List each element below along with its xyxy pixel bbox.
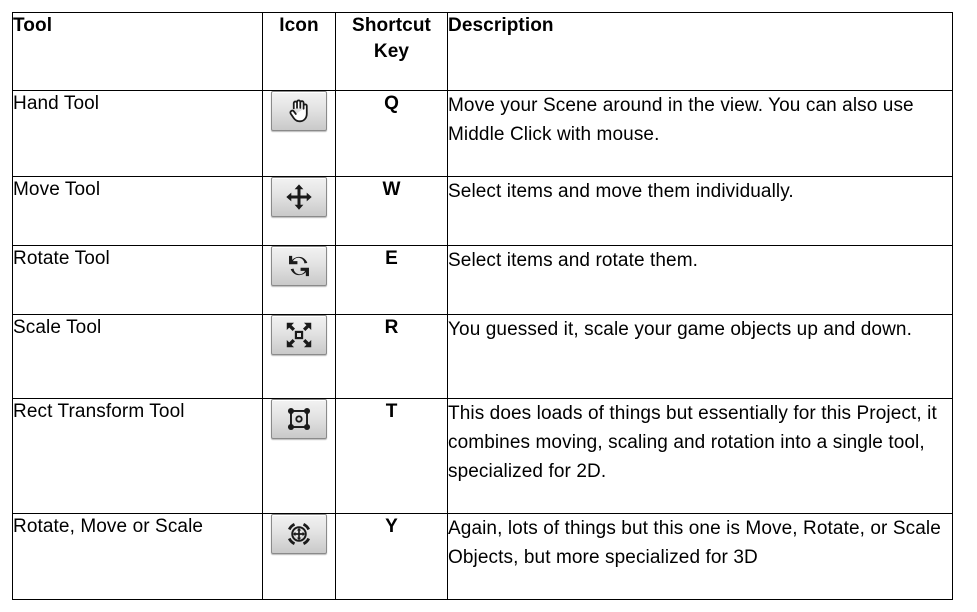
table-row: Rotate, Move or Scale: [13, 514, 953, 600]
column-header-icon: Icon: [263, 13, 336, 91]
column-header-description: Description: [448, 13, 953, 91]
hand-tool-icon[interactable]: [271, 91, 327, 131]
unity-tools-table: Tool Icon Shortcut Key Description Hand …: [12, 12, 953, 600]
cell-description: Select items and move them individually.: [448, 177, 953, 246]
table-body: Hand Tool Q Move your Scene around in th…: [13, 91, 953, 600]
cell-tool-icon: [263, 514, 336, 600]
scale-tool-icon[interactable]: [271, 315, 327, 355]
cell-tool-name: Move Tool: [13, 177, 263, 246]
cell-description: You guessed it, scale your game objects …: [448, 315, 953, 399]
rotate-tool-icon[interactable]: [271, 246, 327, 286]
move-tool-icon[interactable]: [271, 177, 327, 217]
column-header-tool: Tool: [13, 13, 263, 91]
cell-tool-name: Rotate Tool: [13, 246, 263, 315]
cell-shortcut-key: Y: [336, 514, 448, 600]
cell-description: Select items and rotate them.: [448, 246, 953, 315]
cell-shortcut-key: W: [336, 177, 448, 246]
rotate-move-scale-tool-icon[interactable]: [271, 514, 327, 554]
column-header-shortcut-line1: Shortcut: [352, 15, 431, 36]
table-row: Hand Tool Q Move your Scene around in th…: [13, 91, 953, 177]
cell-tool-name: Rotate, Move or Scale: [13, 514, 263, 600]
table-row: Rotate Tool E Select items and rotate th…: [13, 246, 953, 315]
cell-shortcut-key: R: [336, 315, 448, 399]
column-header-shortcut-key: Shortcut Key: [336, 13, 448, 91]
cell-shortcut-key: Q: [336, 91, 448, 177]
cell-tool-icon: [263, 399, 336, 514]
cell-description: This does loads of things but essentiall…: [448, 399, 953, 514]
cell-tool-icon: [263, 177, 336, 246]
column-header-shortcut-line2: Key: [374, 41, 409, 62]
cell-shortcut-key: E: [336, 246, 448, 315]
cell-tool-icon: [263, 91, 336, 177]
cell-tool-icon: [263, 315, 336, 399]
page-root: Tool Icon Shortcut Key Description Hand …: [0, 0, 977, 612]
header-row: Tool Icon Shortcut Key Description: [13, 13, 953, 91]
cell-description: Again, lots of things but this one is Mo…: [448, 514, 953, 600]
cell-tool-name: Rect Transform Tool: [13, 399, 263, 514]
rect-transform-tool-icon[interactable]: [271, 399, 327, 439]
table-row: Scale Tool R You guessed it, scale your …: [13, 315, 953, 399]
table-row: Rect Transform Tool T This d: [13, 399, 953, 514]
cell-description: Move your Scene around in the view. You …: [448, 91, 953, 177]
cell-tool-name: Scale Tool: [13, 315, 263, 399]
table-row: Move Tool W Select items and move them i…: [13, 177, 953, 246]
cell-tool-name: Hand Tool: [13, 91, 263, 177]
table-header: Tool Icon Shortcut Key Description: [13, 13, 953, 91]
cell-tool-icon: [263, 246, 336, 315]
cell-shortcut-key: T: [336, 399, 448, 514]
